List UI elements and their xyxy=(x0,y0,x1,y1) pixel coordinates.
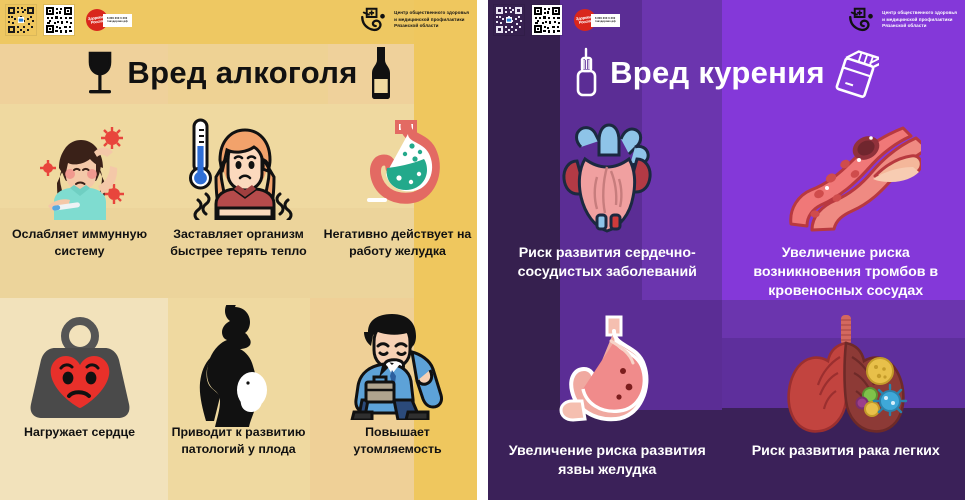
human-heart-icon xyxy=(551,112,663,240)
stomach-icon xyxy=(353,112,443,224)
qr-code-vk[interactable] xyxy=(494,5,524,35)
page-title: Вред курения xyxy=(610,55,825,91)
health-center-emblem-icon xyxy=(360,6,390,34)
item-card: Увеличение риска возникновения тромбов в… xyxy=(727,104,965,302)
smoking-title-row: Вред курения xyxy=(488,44,965,102)
org-line-1: Центр общественного здоровья xyxy=(394,10,469,17)
item-card: Негативно действует на работу желудка xyxy=(318,104,477,302)
healthy-russia-logo-icon: Здоровая Россия xyxy=(86,9,108,31)
org-line-3: Рязанской области xyxy=(394,23,469,30)
item-caption: Риск развития сердечно-сосудистых заболе… xyxy=(488,244,727,282)
vape-device-icon xyxy=(574,47,600,99)
alcohol-header: Здоровая Россия 8 800 200 0 200 такздоро… xyxy=(0,0,477,40)
lungs-cancer-icon xyxy=(776,310,916,438)
cigarette-pack-icon xyxy=(835,48,879,98)
healthy-russia-logo-icon: Здоровая Россия xyxy=(574,9,596,31)
stomach-ulcer-icon xyxy=(551,310,663,438)
hotline-site: такздорово.рф xyxy=(595,20,616,23)
poster-pair: Здоровая Россия 8 800 200 0 200 такздоро… xyxy=(0,0,965,500)
item-card: Ослабляет иммунную систему xyxy=(0,104,159,302)
poster-smoking: Здоровая Россия 8 800 200 0 200 такздоро… xyxy=(488,0,965,500)
pregnant-silhouette-icon xyxy=(191,310,287,422)
item-card: Нагружает сердце xyxy=(0,302,159,500)
sick-woman-fever-icon xyxy=(26,112,134,224)
hotline-site: такздорово.рф xyxy=(107,20,128,23)
org-line-3: Рязанской области xyxy=(882,23,957,30)
organization-name: Центр общественного здоровья и медицинск… xyxy=(882,10,957,31)
qr-code-site[interactable] xyxy=(44,5,74,35)
item-card: Приводит к развитию патологий у плода xyxy=(159,302,318,500)
organization-name: Центр общественного здоровья и медицинск… xyxy=(394,10,469,31)
item-caption: Нагружает сердце xyxy=(20,424,139,441)
item-caption: Негативно действует на работу желудка xyxy=(318,226,477,259)
item-caption: Заставляет организм быстрее терять тепло xyxy=(159,226,318,259)
smoking-items-grid: Риск развития сердечно-сосудистых заболе… xyxy=(488,104,965,500)
wine-glass-icon xyxy=(83,49,117,97)
qr-code-site[interactable] xyxy=(532,5,562,35)
page-title: Вред алкоголя xyxy=(127,55,357,91)
item-card: Риск развития сердечно-сосудистых заболе… xyxy=(488,104,727,302)
item-card: Увеличение риска развития язвы желудка xyxy=(488,302,727,500)
blood-clot-vessel-icon xyxy=(771,112,921,240)
item-caption: Увеличение риска развития язвы желудка xyxy=(488,442,727,480)
tired-man-icon xyxy=(342,310,454,422)
poster-alcohol: Здоровая Россия 8 800 200 0 200 такздоро… xyxy=(0,0,477,500)
health-center-emblem-icon xyxy=(848,6,878,34)
heart-weight-icon xyxy=(21,310,139,422)
item-caption: Повышает утомляемость xyxy=(318,424,477,457)
hotline-badge[interactable]: Здоровая Россия 8 800 200 0 200 такздоро… xyxy=(574,9,620,31)
smoking-header: Здоровая Россия 8 800 200 0 200 такздоро… xyxy=(488,0,965,40)
organization-logo: Центр общественного здоровья и медицинск… xyxy=(848,6,957,34)
item-caption: Увеличение риска возникновения тромбов в… xyxy=(727,244,965,302)
item-card: Повышает утомляемость xyxy=(318,302,477,500)
qr-code-vk[interactable] xyxy=(6,5,36,35)
organization-logo: Центр общественного здоровья и медицинск… xyxy=(360,6,469,34)
thermometer-cold-woman-icon xyxy=(180,112,298,224)
hotline-badge[interactable]: Здоровая Россия 8 800 200 0 200 такздоро… xyxy=(86,9,132,31)
item-caption: Ослабляет иммунную систему xyxy=(0,226,159,259)
alcohol-items-grid: Ослабляет иммунную систему xyxy=(0,104,477,500)
org-line-1: Центр общественного здоровья xyxy=(882,10,957,17)
poster-divider xyxy=(477,0,488,500)
item-card: Риск развития рака легких xyxy=(727,302,965,500)
wine-bottle-icon xyxy=(368,46,394,100)
item-caption: Риск развития рака легких xyxy=(748,442,944,461)
item-caption: Приводит к развитию патологий у плода xyxy=(159,424,318,457)
item-card: Заставляет организм быстрее терять тепло xyxy=(159,104,318,302)
alcohol-title-row: Вред алкоголя xyxy=(0,44,477,102)
